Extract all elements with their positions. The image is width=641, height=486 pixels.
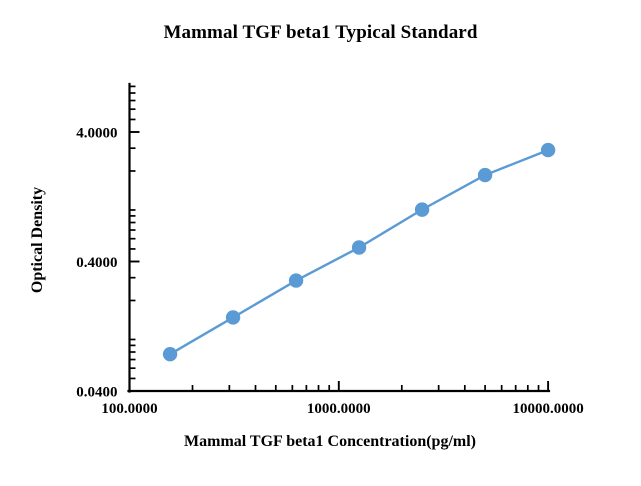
y-tick-label: 0.4000 (76, 255, 117, 271)
data-point[interactable] (226, 310, 240, 324)
x-axis-ticks (130, 381, 549, 391)
data-point[interactable] (163, 347, 177, 361)
data-point[interactable] (541, 143, 555, 157)
axis-spines (129, 84, 550, 392)
chart-container: Mammal TGF beta1 Typical Standard 4.0000… (0, 0, 641, 486)
x-tick-label: 100.0000 (101, 401, 157, 417)
data-series-group (163, 143, 555, 361)
x-tick-label: 1000.0000 (307, 401, 371, 417)
data-point[interactable] (352, 240, 366, 254)
y-axis-tick-labels: 4.00000.40000.0400 (76, 126, 117, 401)
y-tick-label: 0.0400 (76, 385, 117, 401)
chart-plot-area: 4.00000.40000.0400 100.00001000.00001000… (0, 0, 641, 486)
data-point[interactable] (415, 202, 429, 216)
x-axis-tick-labels: 100.00001000.000010000.0000 (101, 401, 583, 417)
data-point[interactable] (478, 168, 492, 182)
y-tick-label: 4.0000 (76, 126, 117, 142)
data-point[interactable] (289, 273, 303, 287)
y-axis-ticks (130, 86, 140, 391)
x-tick-label: 10000.0000 (512, 401, 583, 417)
x-axis-title: Mammal TGF beta1 Concentration(pg/ml) (184, 433, 476, 450)
y-axis-title: Optical Density (29, 187, 46, 293)
